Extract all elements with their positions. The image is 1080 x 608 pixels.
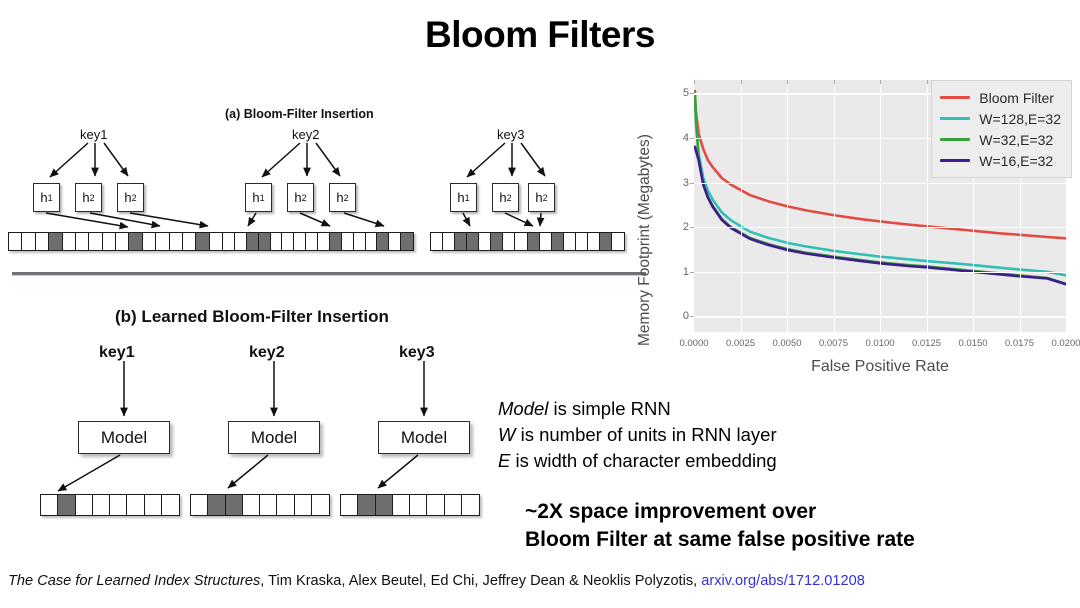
chart-legend-swatch	[940, 96, 970, 99]
chart-legend-swatch	[940, 117, 970, 120]
chart-x-tick-label: 0.0175	[1005, 338, 1034, 349]
chart-y-tick-label: 1	[683, 266, 689, 278]
chart-x-tick-mark	[694, 80, 695, 84]
chart-legend-label: Bloom Filter	[979, 90, 1054, 106]
chart-y-axis-label: Memory Footprint (Megabytes)	[636, 134, 654, 346]
note-line-1: Model is simple RNN	[498, 396, 1058, 422]
conclusion-line-1: ~2X space improvement over	[525, 498, 1070, 526]
chart-y-tick-mark	[690, 227, 694, 228]
chart-legend: Bloom FilterW=128,E=32W=32,E=32W=16,E=32	[931, 80, 1072, 178]
chart-y-tick-mark	[690, 316, 694, 317]
chart-legend-item: W=16,E=32	[940, 150, 1061, 171]
paper-title: The Case for Learned Index Structures	[8, 573, 260, 589]
chart-x-tick-mark	[741, 80, 742, 84]
chart-legend-label: W=32,E=32	[979, 132, 1053, 148]
chart-x-tick-label: 0.0075	[819, 338, 848, 349]
note-3-emphasis: E	[498, 450, 510, 471]
note-3-rest: is width of character embedding	[510, 450, 776, 471]
chart-x-tick-mark	[834, 80, 835, 84]
chart-legend-item: W=32,E=32	[940, 129, 1061, 150]
paper-authors: , Tim Kraska, Alex Beutel, Ed Chi, Jeffr…	[260, 573, 701, 589]
chart-legend-label: W=16,E=32	[979, 153, 1053, 169]
memory-footprint-chart: Memory Footprint (Megabytes) 0123450.000…	[648, 72, 1080, 384]
chart-x-tick-label: 0.0050	[772, 338, 801, 349]
chart-y-tick-mark	[690, 93, 694, 94]
chart-y-axis-label-wrap: Memory Footprint (Megabytes)	[654, 90, 676, 346]
chart-legend-swatch	[940, 138, 970, 141]
chart-y-tick-label: 3	[683, 177, 689, 189]
chart-legend-swatch	[940, 159, 970, 162]
chart-x-tick-label: 0.0100	[865, 338, 894, 349]
chart-x-tick-label: 0.0125	[912, 338, 941, 349]
chart-legend-item: W=128,E=32	[940, 108, 1061, 129]
chart-y-tick-mark	[690, 183, 694, 184]
arxiv-link[interactable]: arxiv.org/abs/1712.01208	[701, 573, 865, 589]
chart-legend-item: Bloom Filter	[940, 87, 1061, 108]
chart-y-tick-label: 0	[683, 310, 689, 322]
chart-gridline-vertical	[880, 80, 881, 332]
chart-gridline-vertical	[787, 80, 788, 332]
chart-gridline-vertical	[834, 80, 835, 332]
definitions-text: Model is simple RNN W is number of units…	[498, 396, 1058, 474]
chart-gridline-vertical	[927, 80, 928, 332]
chart-y-tick-label: 4	[683, 132, 689, 144]
chart-y-tick-mark	[690, 138, 694, 139]
chart-x-tick-mark	[927, 80, 928, 84]
chart-x-tick-mark	[787, 80, 788, 84]
note-1-emphasis: Model	[498, 398, 548, 419]
chart-x-tick-label: 0.0025	[726, 338, 755, 349]
chart-y-tick-label: 5	[683, 87, 689, 99]
note-1-rest: is simple RNN	[548, 398, 670, 419]
note-2-rest: is number of units in RNN layer	[515, 424, 776, 445]
chart-x-axis-label: False Positive Rate	[694, 358, 1066, 376]
note-2-emphasis: W	[498, 424, 515, 445]
chart-x-tick-label: 0.0000	[679, 338, 708, 349]
conclusion-line-2: Bloom Filter at same false positive rate	[525, 526, 1070, 554]
chart-x-tick-mark	[880, 80, 881, 84]
page-title: Bloom Filters	[0, 14, 1080, 56]
note-line-2: W is number of units in RNN layer	[498, 422, 1058, 448]
note-line-3: E is width of character embedding	[498, 448, 1058, 474]
citation-footer: The Case for Learned Index Structures, T…	[8, 573, 1074, 589]
conclusion-text: ~2X space improvement over Bloom Filter …	[525, 498, 1070, 554]
chart-y-tick-label: 2	[683, 221, 689, 233]
chart-y-tick-mark	[690, 272, 694, 273]
chart-x-tick-label: 0.0150	[958, 338, 987, 349]
chart-x-tick-label: 0.0200	[1051, 338, 1080, 349]
chart-gridline-vertical	[741, 80, 742, 332]
chart-legend-label: W=128,E=32	[979, 111, 1061, 127]
